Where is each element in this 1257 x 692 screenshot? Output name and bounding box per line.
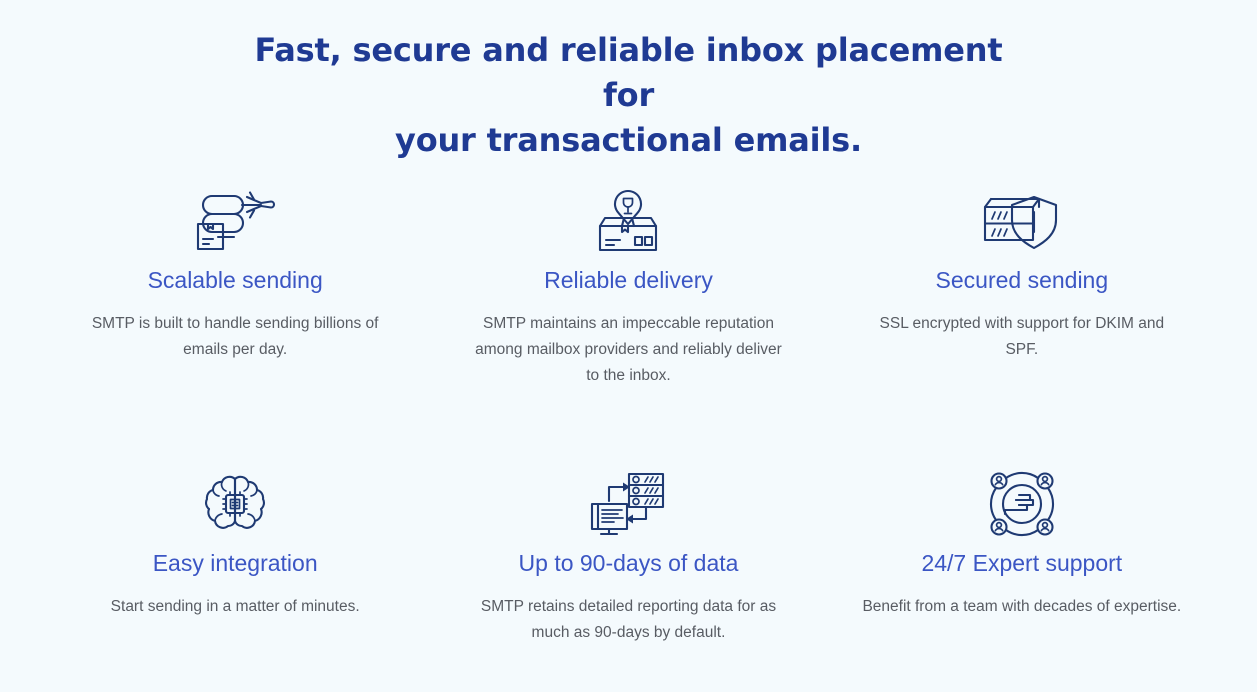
brain-chip-icon (202, 468, 268, 540)
feature-card-reliable-delivery: Reliable delivery SMTP maintains an impe… (432, 185, 825, 389)
feature-card-easy-integration: Easy integration Start sending in a matt… (39, 411, 432, 646)
feature-title: 24/7 Expert support (921, 548, 1122, 578)
features-section: Fast, secure and reliable inbox placemen… (0, 0, 1257, 692)
page-title: Fast, secure and reliable inbox placemen… (219, 28, 1039, 163)
feature-title: Reliable delivery (544, 265, 713, 295)
feature-description: SSL encrypted with support for DKIM and … (862, 311, 1182, 363)
features-grid-row-1: Scalable sending SMTP is built to handle… (39, 163, 1219, 389)
feature-description: SMTP retains detailed reporting data for… (468, 594, 788, 646)
feature-card-data-retention: Up to 90-days of data SMTP retains detai… (432, 411, 825, 646)
feature-description: Start sending in a matter of minutes. (111, 594, 360, 620)
headline-line-2: your transactional emails. (229, 118, 1029, 163)
feature-title: Scalable sending (148, 265, 323, 295)
server-shield-icon (981, 185, 1063, 257)
feature-title: Up to 90-days of data (519, 548, 739, 578)
feature-description: SMTP is built to handle sending billions… (75, 311, 395, 363)
feature-card-scalable-sending: Scalable sending SMTP is built to handle… (39, 185, 432, 389)
support-team-network-icon (989, 468, 1055, 540)
feature-title: Easy integration (153, 548, 318, 578)
feature-card-secured-sending: Secured sending SSL encrypted with suppo… (825, 185, 1218, 389)
feature-description: Benefit from a team with decades of expe… (862, 594, 1181, 620)
feature-title: Secured sending (936, 265, 1109, 295)
monitor-server-sync-icon (589, 468, 667, 540)
features-grid-row-2: Easy integration Start sending in a matt… (39, 389, 1219, 646)
package-fragile-pin-icon (593, 185, 663, 257)
feature-card-expert-support: 24/7 Expert support Benefit from a team … (825, 411, 1218, 646)
feature-description: SMTP maintains an impeccable reputation … (468, 311, 788, 389)
package-airplane-route-icon (192, 185, 278, 257)
headline-line-1: Fast, secure and reliable inbox placemen… (229, 28, 1029, 118)
